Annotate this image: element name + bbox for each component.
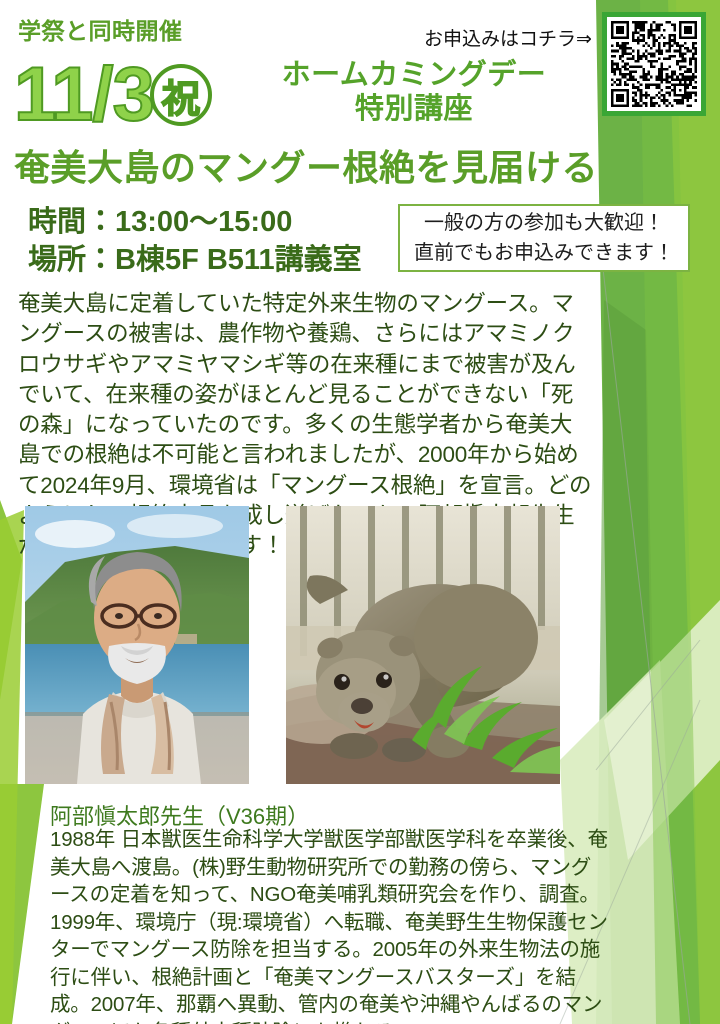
welcome-callout-box: 一般の方の参加も大歓迎！ 直前でもお申込みできます！ xyxy=(398,204,690,272)
mongoose-photo xyxy=(286,506,560,784)
event-time: 時間：13:00〜15:00 xyxy=(28,203,362,241)
festival-tagline: 学祭と同時開催 xyxy=(18,12,183,46)
apply-here-label: お申込みはコチラ⇒ xyxy=(424,24,592,51)
event-date-number: 11/3 xyxy=(14,57,154,133)
event-series-title-line1: ホームカミングデー xyxy=(264,58,564,92)
speaker-bio: 1988年 日本獣医生命科学大学獣医学部獣医学科を卒業後、奄美大島へ渡島。(株)… xyxy=(50,826,610,1024)
event-place: 場所：B棟5F B511講義室 xyxy=(28,241,362,279)
callout-line-1: 一般の方の参加も大歓迎！ xyxy=(424,208,664,238)
qr-code-canvas xyxy=(611,21,697,107)
qr-code-icon[interactable] xyxy=(602,12,706,116)
event-date-block: 11/3 祝 xyxy=(14,52,212,138)
speaker-portrait-photo xyxy=(25,506,249,784)
event-details: 時間：13:00〜15:00 場所：B棟5F B511講義室 xyxy=(28,203,362,279)
event-poster: 学祭と同時開催 お申込みはコチラ⇒ 11/3 祝 ホームカミングデー 特別講座 … xyxy=(0,0,720,1024)
event-series-title-line2: 特別講座 xyxy=(264,92,564,126)
callout-line-2: 直前でもお申込みできます！ xyxy=(414,238,674,268)
poster-headline: 奄美大島のマングー根絶を見届ける xyxy=(14,146,598,190)
event-series-title: ホームカミングデー 特別講座 xyxy=(264,58,564,126)
holiday-badge: 祝 xyxy=(150,64,212,126)
